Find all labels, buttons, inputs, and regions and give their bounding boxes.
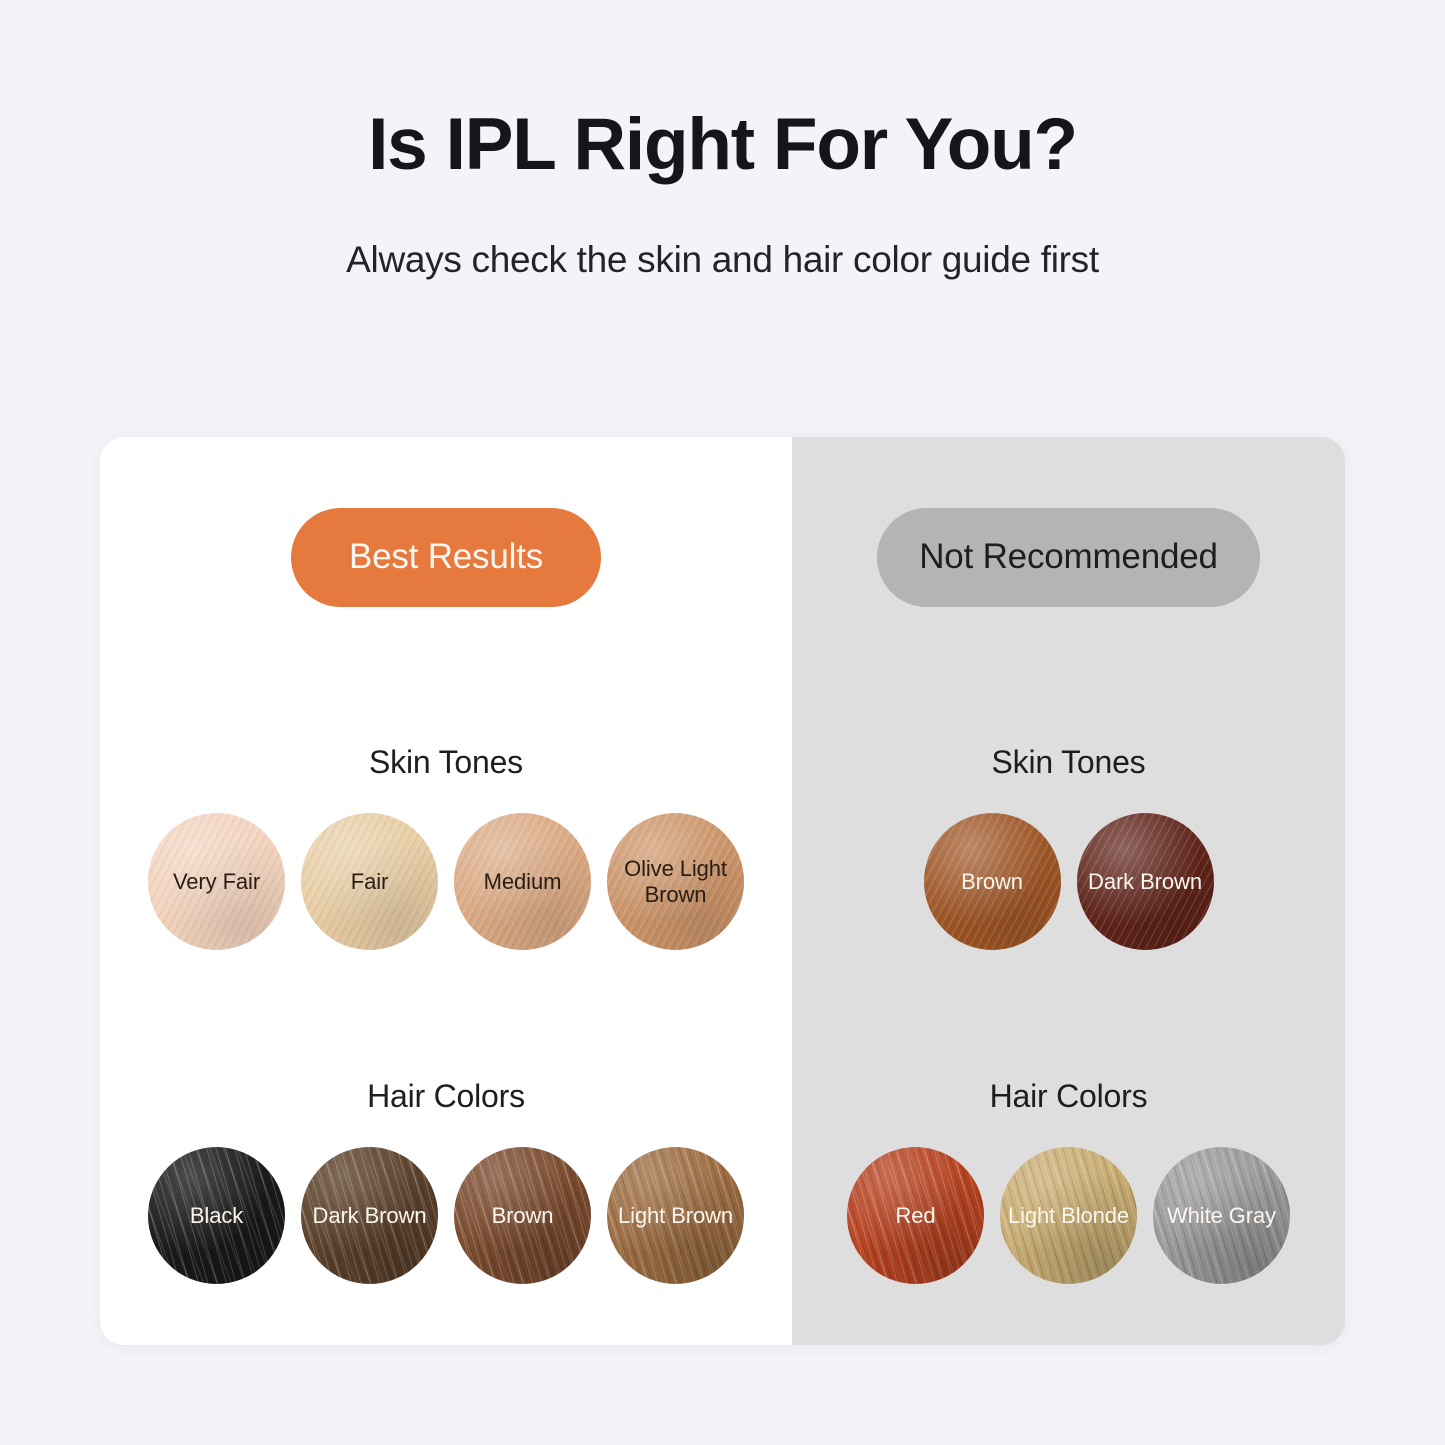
badge-not-recommended[interactable]: Not Recommended <box>877 508 1260 607</box>
swatch-label: Light Blonde <box>1002 1203 1135 1229</box>
swatch-label: Medium <box>478 869 568 895</box>
swatch-label: Brown <box>955 869 1029 895</box>
swatch-label: Very Fair <box>167 869 266 895</box>
panel-best-results: Best Results Skin Tones Very Fair Fair M… <box>100 437 792 1345</box>
badge-best-results-wrap: Best Results <box>100 508 792 607</box>
swatch-label: Black <box>184 1203 249 1229</box>
swatch-hair-white-gray[interactable]: White Gray <box>1153 1147 1290 1284</box>
left-hair-colors-heading: Hair Colors <box>100 1078 792 1115</box>
header: Is IPL Right For You? Always check the s… <box>0 0 1445 281</box>
page-subtitle: Always check the skin and hair color gui… <box>0 239 1445 281</box>
swatch-label: Fair <box>345 869 395 895</box>
swatch-hair-black[interactable]: Black <box>148 1147 285 1284</box>
swatch-skin-very-fair[interactable]: Very Fair <box>148 813 285 950</box>
left-skin-tones-heading: Skin Tones <box>100 744 792 781</box>
right-hair-colors-row: Red Light Blonde White Gray <box>792 1147 1345 1284</box>
swatch-skin-medium[interactable]: Medium <box>454 813 591 950</box>
right-hair-colors-heading: Hair Colors <box>792 1078 1345 1115</box>
swatch-label: White Gray <box>1161 1203 1282 1229</box>
right-skin-tones-heading: Skin Tones <box>792 744 1345 781</box>
swatch-hair-red[interactable]: Red <box>847 1147 984 1284</box>
swatch-label: Red <box>889 1203 941 1229</box>
swatch-hair-light-blonde[interactable]: Light Blonde <box>1000 1147 1137 1284</box>
swatch-label: Dark Brown <box>1082 869 1208 895</box>
left-skin-tones-row: Very Fair Fair Medium Olive Light Brown <box>100 813 792 950</box>
badge-best-results[interactable]: Best Results <box>291 508 601 607</box>
swatch-skin-olive-light-brown[interactable]: Olive Light Brown <box>607 813 744 950</box>
right-skin-tones-row: Brown Dark Brown <box>792 813 1345 950</box>
swatch-hair-brown[interactable]: Brown <box>454 1147 591 1284</box>
badge-not-recommended-wrap: Not Recommended <box>792 508 1345 607</box>
swatch-skin-fair[interactable]: Fair <box>301 813 438 950</box>
swatch-skin-dark-brown[interactable]: Dark Brown <box>1077 813 1214 950</box>
swatch-skin-brown[interactable]: Brown <box>924 813 1061 950</box>
comparison-card: Best Results Skin Tones Very Fair Fair M… <box>100 437 1345 1345</box>
swatch-label: Dark Brown <box>307 1203 433 1229</box>
swatch-label: Olive Light Brown <box>607 856 744 908</box>
swatch-label: Brown <box>486 1203 560 1229</box>
swatch-hair-light-brown[interactable]: Light Brown <box>607 1147 744 1284</box>
swatch-label: Light Brown <box>612 1203 739 1229</box>
left-hair-colors-row: Black Dark Brown Brown Light Brown <box>100 1147 792 1284</box>
panel-not-recommended: Not Recommended Skin Tones Brown Dark Br… <box>792 437 1345 1345</box>
infographic-page: Is IPL Right For You? Always check the s… <box>0 0 1445 1445</box>
page-title: Is IPL Right For You? <box>0 108 1445 181</box>
swatch-hair-dark-brown[interactable]: Dark Brown <box>301 1147 438 1284</box>
